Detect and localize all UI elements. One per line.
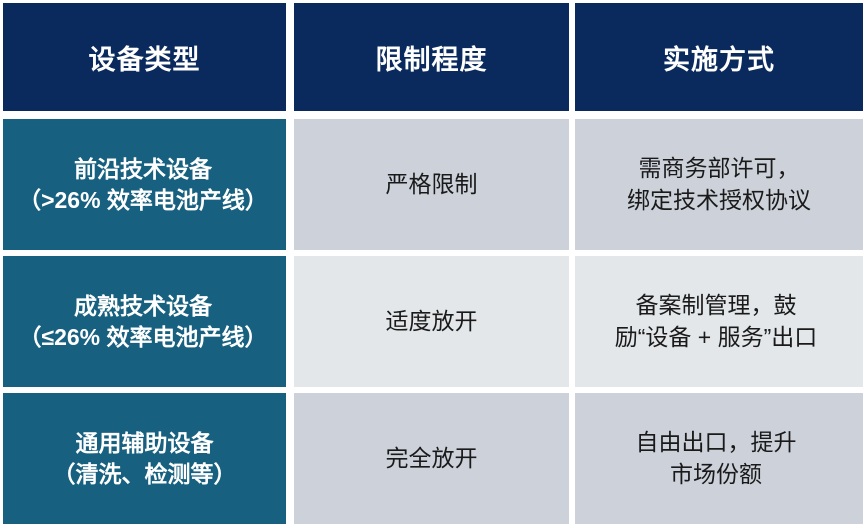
table-row: 通用辅助设备 （清洗、检测等） 完全放开 自由出口，提升 市场份额 xyxy=(0,393,863,524)
implementation-method-text: 需商务部许可， 绑定技术授权协议 xyxy=(575,153,863,215)
implementation-method-line-1: 自由出口，提升 xyxy=(569,427,863,458)
restriction-level-text: 严格限制 xyxy=(386,169,478,200)
device-type-line-1: 成熟技术设备 xyxy=(3,291,286,321)
implementation-method-text: 备案制管理，鼓 励“设备 + 服务”出口 xyxy=(569,290,863,352)
table-row: 前沿技术设备 （>26% 效率电池产线） 严格限制 需商务部许可， 绑定技术授权… xyxy=(0,119,863,250)
device-type-text: 通用辅助设备 （清洗、检测等） xyxy=(3,428,286,489)
implementation-method-line-1: 备案制管理，鼓 xyxy=(569,290,863,321)
implementation-method-line-2: 励“设备 + 服务”出口 xyxy=(569,322,863,353)
cell-device-type: 前沿技术设备 （>26% 效率电池产线） xyxy=(3,119,286,250)
restriction-level-text: 适度放开 xyxy=(386,306,478,337)
implementation-method-line-1: 需商务部许可， xyxy=(575,153,863,184)
cell-device-type: 成熟技术设备 （≤26% 效率电池产线） xyxy=(3,256,286,387)
implementation-method-text: 自由出口，提升 市场份额 xyxy=(569,427,863,489)
header-cell-device-type: 设备类型 xyxy=(3,3,286,111)
table-row: 成熟技术设备 （≤26% 效率电池产线） 适度放开 备案制管理，鼓 励“设备 +… xyxy=(0,256,863,387)
device-type-line-2: （≤26% 效率电池产线） xyxy=(3,322,286,352)
device-type-line-2: （>26% 效率电池产线） xyxy=(3,185,286,215)
cell-implementation-method: 备案制管理，鼓 励“设备 + 服务”出口 xyxy=(575,256,863,387)
cell-restriction-level: 严格限制 xyxy=(294,119,569,250)
implementation-method-line-2: 绑定技术授权协议 xyxy=(575,185,863,216)
comparison-table: 设备类型 限制程度 实施方式 前沿技术设备 （>26% 效率电池产线） 严格限制… xyxy=(0,0,863,530)
table-header-row: 设备类型 限制程度 实施方式 xyxy=(0,3,863,111)
cell-implementation-method: 自由出口，提升 市场份额 xyxy=(575,393,863,524)
device-type-text: 前沿技术设备 （>26% 效率电池产线） xyxy=(3,154,286,215)
header-cell-implementation-method: 实施方式 xyxy=(575,3,863,111)
device-type-line-1: 前沿技术设备 xyxy=(3,154,286,184)
device-type-line-2: （清洗、检测等） xyxy=(3,459,286,489)
cell-restriction-level: 适度放开 xyxy=(294,256,569,387)
header-cell-restriction-level: 限制程度 xyxy=(294,3,569,111)
implementation-method-line-2: 市场份额 xyxy=(569,459,863,490)
cell-device-type: 通用辅助设备 （清洗、检测等） xyxy=(3,393,286,524)
cell-restriction-level: 完全放开 xyxy=(294,393,569,524)
header-label-restriction-level: 限制程度 xyxy=(376,38,488,77)
cell-implementation-method: 需商务部许可， 绑定技术授权协议 xyxy=(575,119,863,250)
header-label-implementation-method: 实施方式 xyxy=(663,38,775,77)
header-label-device-type: 设备类型 xyxy=(89,38,201,77)
device-type-text: 成熟技术设备 （≤26% 效率电池产线） xyxy=(3,291,286,352)
device-type-line-1: 通用辅助设备 xyxy=(3,428,286,458)
restriction-level-text: 完全放开 xyxy=(386,443,478,474)
